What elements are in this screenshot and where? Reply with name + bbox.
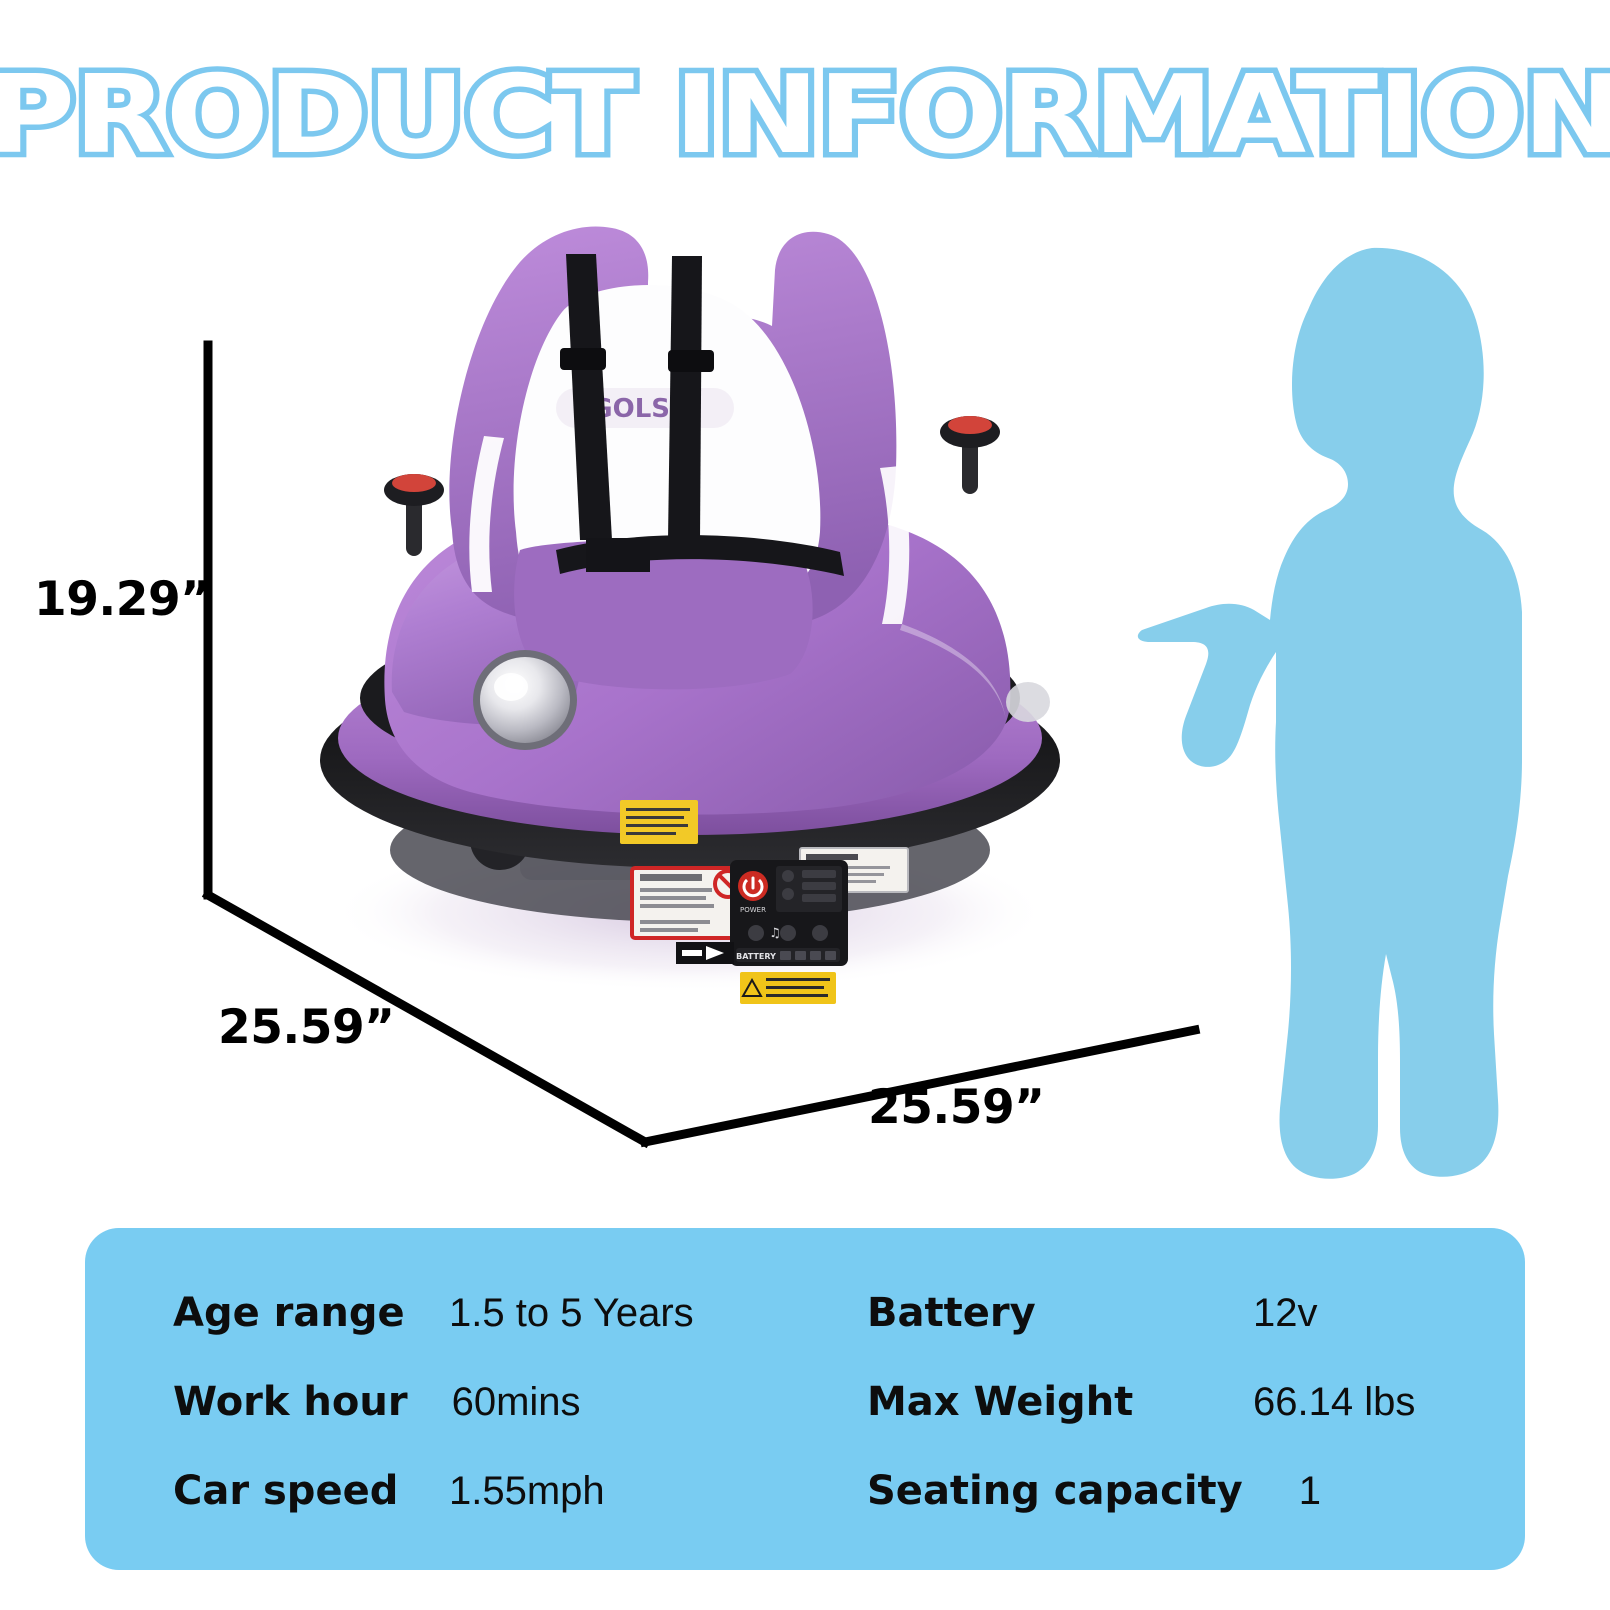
spec-cell-work-hour: Work hour 60mins (85, 1379, 785, 1425)
spec-value-car-speed: 1.55mph (449, 1469, 605, 1514)
spec-value-seating-capacity: 1 (1299, 1469, 1321, 1514)
spec-value-battery: 12v (1253, 1291, 1318, 1336)
spec-row: Work hour 60mins Max Weight 66.14 lbs (85, 1379, 1525, 1425)
spec-label-work-hour: Work hour (173, 1379, 408, 1425)
spec-label-car-speed: Car speed (173, 1468, 405, 1514)
product-stage: GOLSPI (0, 200, 1610, 1210)
spec-value-max-weight: 66.14 lbs (1253, 1380, 1415, 1425)
child-silhouette (0, 200, 1610, 1210)
specifications-panel: Age range 1.5 to 5 Years Battery 12v Wor… (85, 1228, 1525, 1570)
child-silhouette-shape (1138, 248, 1522, 1179)
spec-cell-battery: Battery 12v (785, 1290, 1525, 1336)
spec-cell-max-weight: Max Weight 66.14 lbs (785, 1379, 1525, 1425)
spec-row: Car speed 1.55mph Seating capacity 1 (85, 1468, 1525, 1514)
spec-cell-seating-capacity: Seating capacity 1 (785, 1468, 1525, 1514)
spec-cell-age-range: Age range 1.5 to 5 Years (85, 1290, 785, 1336)
dimension-label-depth: 25.59” (218, 1000, 395, 1055)
spec-value-age-range: 1.5 to 5 Years (449, 1291, 694, 1336)
spec-row: Age range 1.5 to 5 Years Battery 12v (85, 1290, 1525, 1336)
spec-label-age-range: Age range (173, 1290, 405, 1336)
dimension-label-height: 19.29” (34, 572, 211, 627)
dimension-label-width: 25.59” (868, 1080, 1045, 1135)
spec-label-seating-capacity: Seating capacity (867, 1468, 1243, 1514)
spec-value-work-hour: 60mins (452, 1380, 581, 1425)
spec-label-max-weight: Max Weight (867, 1379, 1197, 1425)
page-title: PRODUCT INFORMATION (0, 62, 1610, 170)
title-banner: PRODUCT INFORMATION (0, 62, 1610, 170)
spec-cell-car-speed: Car speed 1.55mph (85, 1468, 785, 1514)
spec-label-battery: Battery (867, 1290, 1197, 1336)
